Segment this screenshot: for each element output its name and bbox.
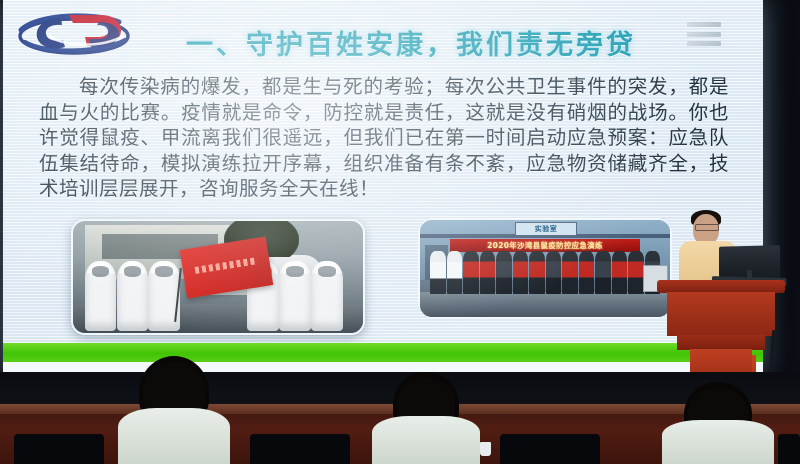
lab-sign: 实验室 xyxy=(515,222,577,236)
participant xyxy=(579,251,595,294)
participant xyxy=(595,251,611,294)
audience-seat xyxy=(250,434,350,464)
audience-seat xyxy=(14,434,104,464)
photo-plague-drill-group: 实验室 2020年沙湾县鼠疫防控应急演练 xyxy=(418,218,672,319)
hazmat-figure xyxy=(279,261,311,330)
slide-body-text: 每次传染病的爆发，都是生与死的考验；每次公共卫生事件的突发，都是血与火的比赛。疫… xyxy=(39,74,729,202)
presenter-at-podium xyxy=(655,208,785,388)
hamburger-menu-icon[interactable] xyxy=(687,22,721,46)
projection-screen: 一、守护百姓安康，我们责无旁贷 每次传染病的爆发，都是生与死的考验；每次公共卫生… xyxy=(3,0,763,372)
participant xyxy=(447,251,463,294)
participant xyxy=(546,251,562,294)
participant xyxy=(463,251,479,294)
photo-ground xyxy=(420,292,670,317)
audience-seat xyxy=(778,434,800,464)
presenter-glasses xyxy=(695,224,719,231)
drill-participants-row xyxy=(430,251,660,294)
audience-member-center xyxy=(372,364,480,464)
participant xyxy=(529,251,545,294)
audience-body xyxy=(372,416,480,464)
hazmat-figure xyxy=(311,261,343,330)
audience-body xyxy=(118,408,230,464)
participant xyxy=(562,251,578,294)
hazmat-figure xyxy=(117,261,149,330)
hamburger-line xyxy=(687,32,721,37)
drill-banner-text: 2020年沙湾县鼠疫防控应急演练 xyxy=(487,240,603,251)
photo-hazmat-team-with-flag xyxy=(71,219,365,335)
hamburger-line xyxy=(687,41,721,46)
lab-sign-text: 实验室 xyxy=(535,224,558,234)
audience-body xyxy=(662,420,774,464)
participant xyxy=(612,251,628,294)
audience-member-left xyxy=(118,354,230,464)
participant xyxy=(430,251,446,294)
participant xyxy=(480,251,496,294)
conference-hall-scene: 一、守护百姓安康，我们责无旁贷 每次传染病的爆发，都是生与死的考验；每次公共卫生… xyxy=(0,0,800,464)
hamburger-line xyxy=(687,22,721,27)
flag-lettering xyxy=(195,257,258,274)
slide-accent-band xyxy=(3,343,763,362)
participant xyxy=(628,251,644,294)
hazmat-figure xyxy=(85,261,117,330)
audience-seat xyxy=(500,434,600,464)
slide-title: 一、守护百姓安康，我们责无旁贷 xyxy=(131,22,691,62)
water-cup xyxy=(480,442,491,456)
podium-mid-trim xyxy=(677,335,765,350)
audience-member-right xyxy=(662,368,774,464)
participant xyxy=(496,251,512,294)
podium-body xyxy=(667,292,775,336)
participant xyxy=(513,251,529,294)
cdc-logo xyxy=(15,6,133,58)
